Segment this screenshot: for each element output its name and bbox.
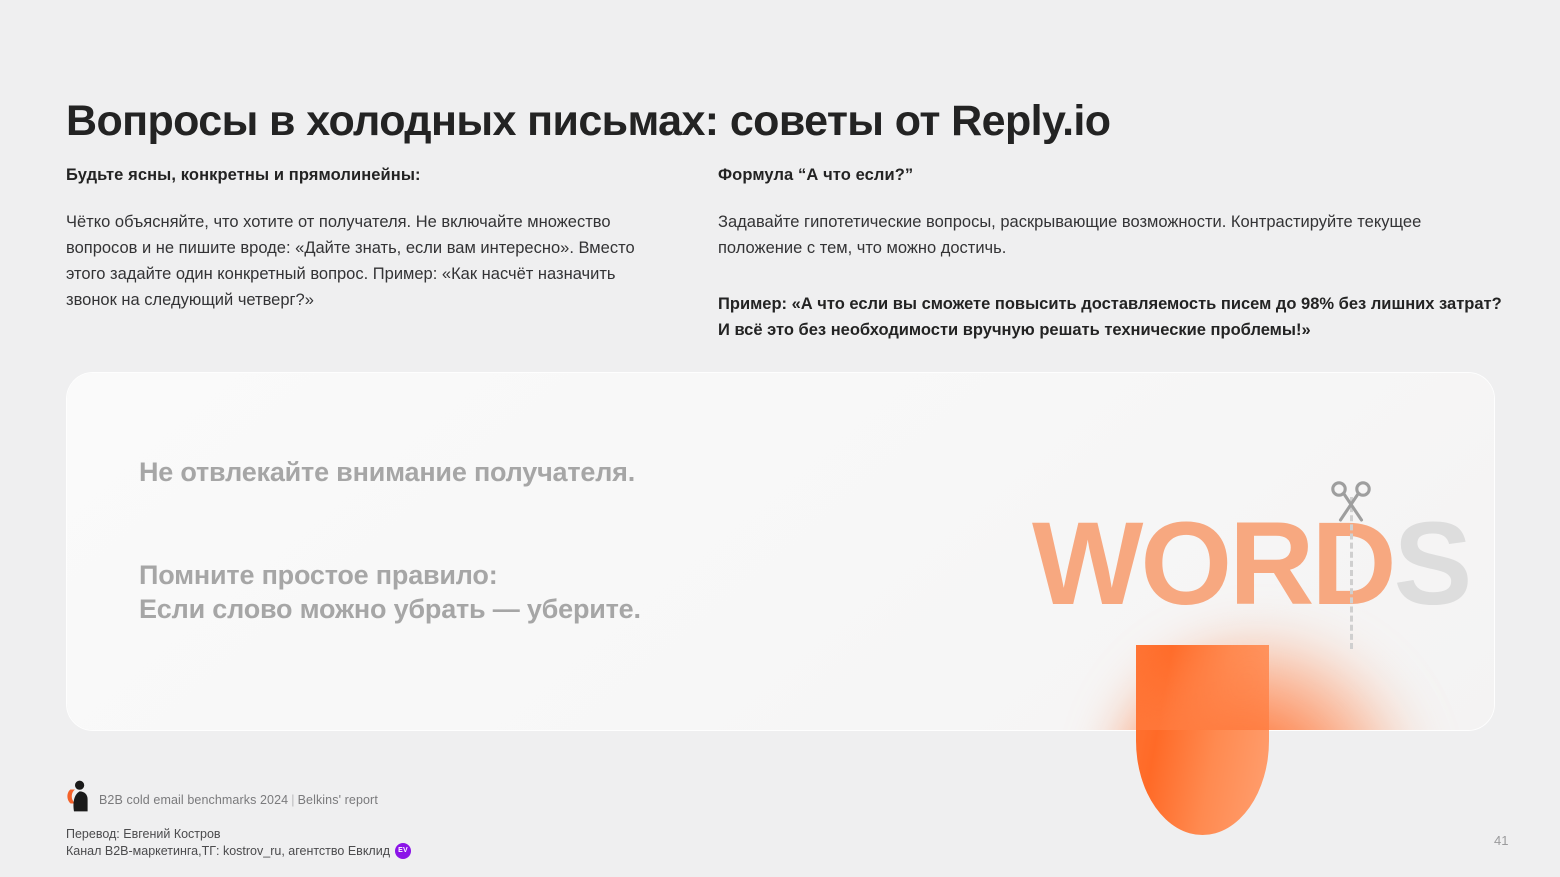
scissors-icon bbox=[1329, 477, 1375, 523]
card-line-3: Если слово можно убрать — уберите. bbox=[139, 592, 641, 626]
column-left-heading: Будьте ясны, конкретны и прямолинейны: bbox=[66, 166, 666, 185]
page-number: 41 bbox=[1494, 833, 1508, 848]
page-title: Вопросы в холодных письмах: советы от Re… bbox=[66, 97, 1110, 146]
card-line-2: Помните простое правило: bbox=[139, 558, 641, 592]
footer-credit-line-1: Перевод: Евгений Костров bbox=[66, 826, 411, 843]
euclid-badge-icon: EV bbox=[395, 843, 411, 859]
column-right-heading: Формула “А что если?” bbox=[718, 166, 1518, 185]
footer-source-prefix: B2B cold email benchmarks 2024 bbox=[99, 793, 288, 807]
highlight-card: Не отвлекайте внимание получателя. Помни… bbox=[67, 373, 1494, 730]
card-spacer bbox=[139, 489, 641, 558]
footer-source-suffix: Belkins' report bbox=[298, 793, 378, 807]
footer-credit: Перевод: Евгений Костров Канал B2B-марке… bbox=[66, 826, 411, 859]
words-cut-part: S bbox=[1394, 498, 1470, 630]
orange-blob-shape bbox=[1136, 645, 1269, 835]
words-text: WORDS bbox=[1032, 505, 1469, 623]
text-column-left: Будьте ясны, конкретны и прямолинейны: Ч… bbox=[66, 166, 666, 313]
column-right-example: Пример: «А что если вы сможете повысить … bbox=[718, 291, 1508, 343]
footer-credit-line-2: Канал B2B-маркетинга,ТГ: kostrov_ru, аге… bbox=[66, 843, 411, 860]
footer-source-separator: | bbox=[288, 793, 297, 807]
footer-credit-channel: Канал B2B-маркетинга,ТГ: kostrov_ru, аге… bbox=[66, 843, 390, 860]
text-column-right: Формула “А что если?” Задавайте гипотети… bbox=[718, 166, 1518, 343]
footer-source: B2B cold email benchmarks 2024|Belkins' … bbox=[99, 793, 378, 807]
belkins-logo-icon bbox=[66, 780, 94, 812]
column-right-body: Задавайте гипотетические вопросы, раскры… bbox=[718, 209, 1508, 261]
words-graphic: WORDS bbox=[1032, 505, 1469, 635]
footer-credit-translator: Перевод: Евгений Костров bbox=[66, 826, 221, 843]
card-text-block: Не отвлекайте внимание получателя. Помни… bbox=[139, 455, 641, 626]
slide-root: Вопросы в холодных письмах: советы от Re… bbox=[0, 0, 1560, 877]
column-left-body: Чётко объясняйте, что хотите от получате… bbox=[66, 209, 651, 313]
card-line-1: Не отвлекайте внимание получателя. bbox=[139, 455, 641, 489]
